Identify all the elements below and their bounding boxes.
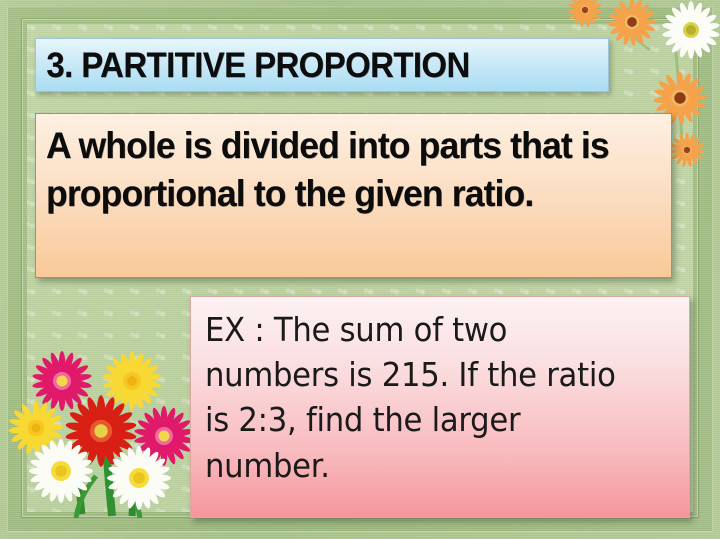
definition-panel: A whole is divided into parts that is pr… <box>35 113 672 278</box>
example-panel: EX : The sum of two numbers is 215. If t… <box>190 296 690 518</box>
example-text: EX : The sum of two numbers is 215. If t… <box>205 307 646 488</box>
page-title: 3. PARTITIVE PROPORTION <box>36 48 470 83</box>
slide-canvas: 3. PARTITIVE PROPORTION A whole is divid… <box>0 0 720 539</box>
definition-text: A whole is divided into parts that is pr… <box>46 122 634 218</box>
title-banner: 3. PARTITIVE PROPORTION <box>35 38 609 92</box>
